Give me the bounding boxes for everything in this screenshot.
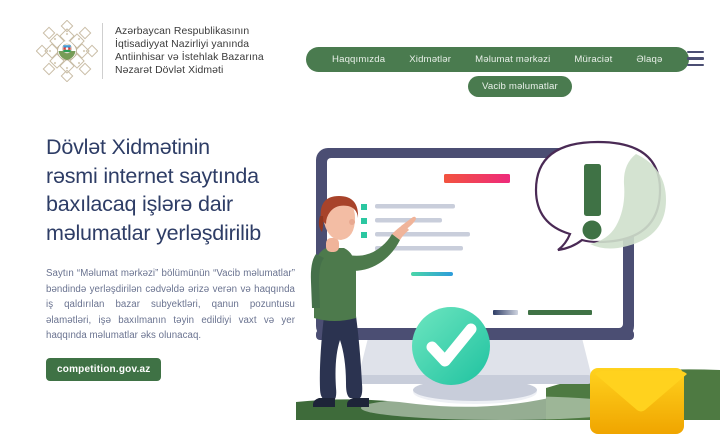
nav-item-xidmetler[interactable]: Xidmətlər: [397, 54, 463, 65]
primary-navigation: Haqqımızda Xidmətlər Məlumat mərkəzi Mür…: [306, 47, 689, 72]
nav-item-elaqe[interactable]: Əlaqə: [624, 54, 674, 65]
brand-divider: [102, 23, 103, 79]
brand-block[interactable]: Azərbaycan Respublikasının İqtisadiyyat …: [36, 20, 264, 82]
screen-gray-bar: [493, 310, 518, 315]
nav-item-muraciet[interactable]: Müraciət: [562, 54, 624, 65]
screen-green-bar: [528, 310, 592, 315]
website-link-button[interactable]: competition.gov.az: [46, 358, 161, 381]
screen-title-bar: [444, 174, 510, 183]
yellow-envelope: [590, 368, 687, 434]
monitor-checklist-illustration: [296, 120, 720, 446]
screen-accent-line: [411, 272, 453, 276]
hero-section: Dövlət Xidmətinin rəsmi internet saytınd…: [46, 133, 336, 381]
hamburger-line: [687, 64, 704, 66]
state-emblem-ornament-icon: [36, 20, 98, 82]
hero-description: Saytın “Məlumat mərkəzi” bölümünün “Vaci…: [46, 266, 295, 344]
nav-item-melumat-merkezi[interactable]: Məlumat mərkəzi: [463, 54, 562, 65]
subnav-vacib-melumatlar[interactable]: Vacib məlumatlar: [468, 76, 572, 97]
nav-item-haqqimizda[interactable]: Haqqımızda: [320, 54, 397, 65]
exclamation-bar: [584, 164, 601, 216]
subnav-label: Vacib məlumatlar: [482, 81, 558, 92]
brand-title: Azərbaycan Respublikasının İqtisadiyyat …: [115, 25, 264, 78]
hamburger-icon[interactable]: [687, 51, 704, 66]
page-root: Azərbaycan Respublikasının İqtisadiyyat …: [0, 0, 720, 446]
site-header: Azərbaycan Respublikasının İqtisadiyyat …: [0, 0, 720, 110]
green-check-badge: [412, 307, 490, 385]
hamburger-line: [687, 51, 704, 53]
hamburger-line: [687, 57, 704, 59]
exclamation-dot: [583, 221, 602, 240]
page-title: Dövlət Xidmətinin rəsmi internet saytınd…: [46, 133, 336, 247]
